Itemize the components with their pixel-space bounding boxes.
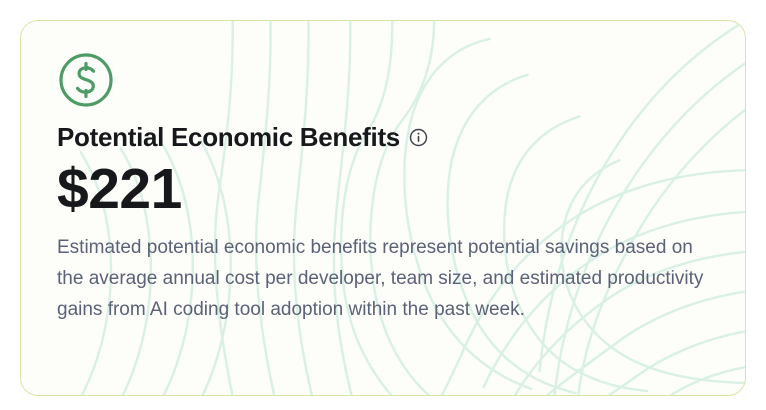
metric-value: $221 [57, 159, 709, 221]
potential-economic-benefits-card: Potential Economic Benefits $221 Estimat… [20, 20, 746, 396]
card-title: Potential Economic Benefits [57, 123, 400, 153]
card-content: Potential Economic Benefits $221 Estimat… [21, 21, 745, 325]
dollar-circle-icon [57, 51, 115, 109]
info-icon[interactable] [409, 128, 428, 147]
card-title-row: Potential Economic Benefits [57, 123, 709, 153]
metric-description: Estimated potential economic benefits re… [57, 232, 709, 325]
screenshot-root: Potential Economic Benefits $221 Estimat… [0, 0, 766, 410]
